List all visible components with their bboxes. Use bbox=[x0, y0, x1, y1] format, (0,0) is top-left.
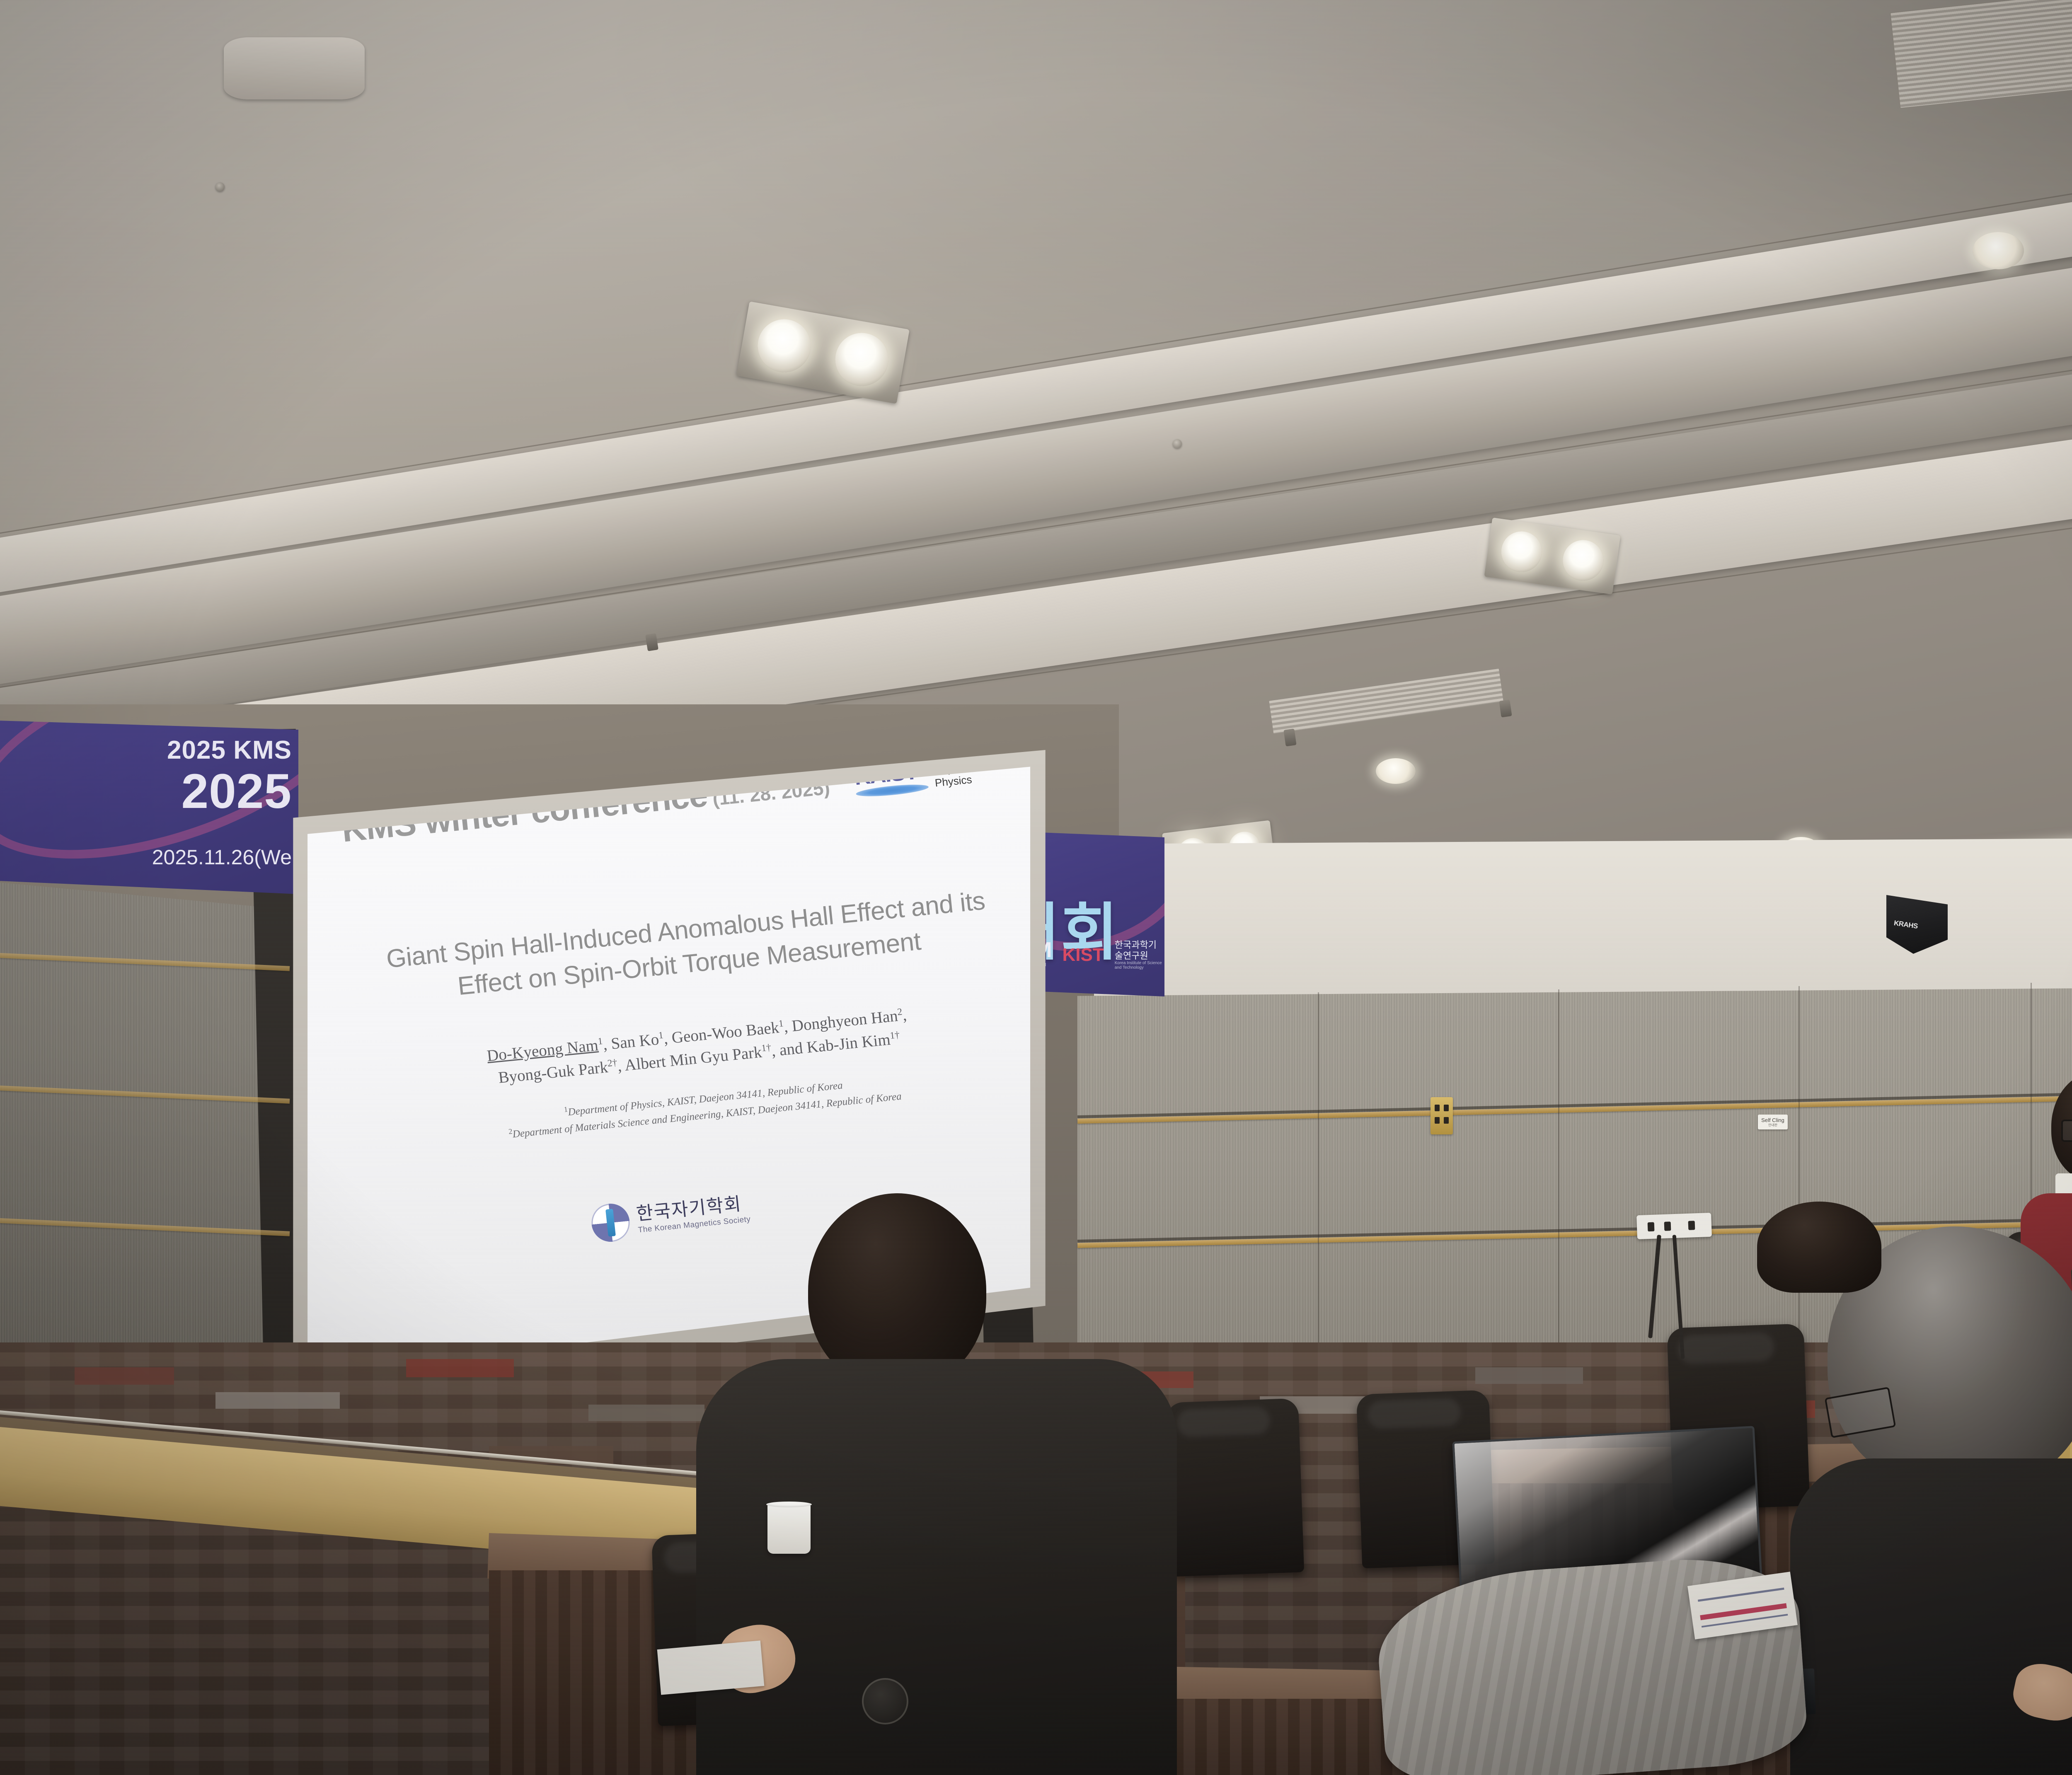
sponsor-kist-korean: 한국과학기술연구원 bbox=[1115, 940, 1157, 960]
sprinkler-icon bbox=[215, 182, 225, 191]
paper-cup-front[interactable] bbox=[767, 1504, 811, 1554]
banner-left-line2: 2025 bbox=[152, 766, 292, 817]
banner-left-line3: 2025.11.26(We bbox=[152, 846, 292, 868]
attendee-right-jacket bbox=[1790, 1458, 2072, 1775]
attendee-front-jacket bbox=[696, 1359, 1177, 1775]
sponsor-kist-mark: KIST bbox=[1063, 947, 1104, 963]
chair[interactable] bbox=[1166, 1398, 1304, 1577]
wall-panel-seam bbox=[1558, 989, 1559, 1400]
slide-title: Giant Spin Hall-Induced Anomalous Hall E… bbox=[329, 878, 1046, 1016]
sprinkler-icon bbox=[1173, 439, 1182, 448]
wall-outlet-plate[interactable] bbox=[1431, 1097, 1453, 1134]
ceiling-air-vent bbox=[1890, 0, 2072, 109]
attendee-front-row bbox=[684, 1193, 1181, 1775]
ceiling-hook bbox=[1499, 699, 1512, 717]
banner-left: 2025 KMS 2025 2025.11.26(We bbox=[0, 720, 298, 894]
kms-logo-icon bbox=[590, 1202, 632, 1243]
wall-placard: Self Cling 안내판 bbox=[1758, 1115, 1788, 1129]
ceiling-hook bbox=[1283, 728, 1296, 746]
wall-placard-line1: Self Cling bbox=[1761, 1117, 1784, 1123]
wall-placard-line2: 안내판 bbox=[1768, 1124, 1777, 1127]
ceiling-downlight bbox=[1973, 232, 2024, 269]
sponsor-kist-english: Korea Institute of Science and Technolog… bbox=[1115, 961, 1164, 970]
jacket-sleeve-patch bbox=[862, 1678, 908, 1724]
presenter-glasses bbox=[2061, 1120, 2072, 1142]
attendee-background-head bbox=[1757, 1202, 1881, 1293]
speaker-brand-label: KRAHS bbox=[1893, 919, 1918, 931]
handout-paper-front[interactable] bbox=[657, 1640, 765, 1695]
banner-left-line1: 2025 KMS bbox=[152, 737, 292, 764]
wall-panel-seam bbox=[1318, 992, 1319, 1398]
smoke-detector-icon bbox=[224, 37, 365, 99]
ceiling-downlight bbox=[1376, 758, 1416, 784]
lecture-hall-photo: Self Cling 안내판 소화기 Fire Extinguisher KRA… bbox=[0, 0, 2072, 1775]
